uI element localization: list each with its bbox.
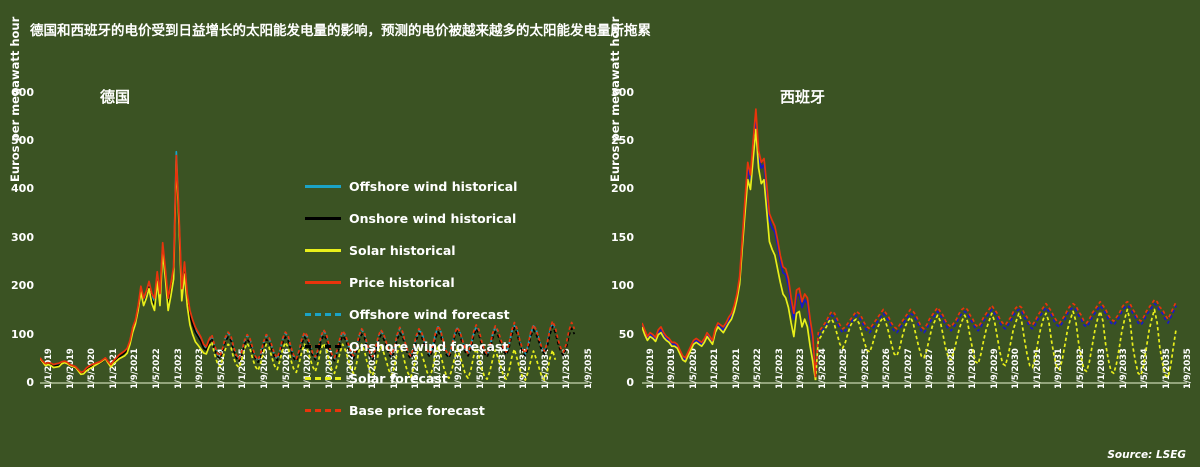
legend-color-swatch [305, 180, 341, 192]
legend-item-label: Solar forecast [349, 371, 448, 386]
y-axis-title-germany: Euros per megawatt hour [8, 17, 22, 182]
y-tick-label: 200 [0, 279, 34, 292]
legend-item-label: Base price forecast [349, 403, 485, 418]
y-tick-label: 100 [600, 279, 634, 292]
y-tick-label: 150 [600, 231, 634, 244]
legend-item[interactable]: Offshore wind historical [305, 170, 517, 202]
y-tick-label: 250 [600, 134, 634, 147]
legend-color-swatch [305, 244, 341, 256]
legend-color-swatch [305, 340, 341, 352]
legend-item-label: Price historical [349, 275, 455, 290]
y-tick-label: 0 [600, 376, 634, 389]
y-axis-title-spain: Euros per megawatt hour [608, 17, 622, 182]
series-line [642, 116, 816, 378]
series-line [816, 304, 1177, 379]
legend-color-swatch [305, 404, 341, 416]
legend-item[interactable]: Onshore wind forecast [305, 330, 517, 362]
series-line [642, 129, 816, 380]
legend-item-label: Solar historical [349, 243, 456, 258]
source-attribution: Source: LSEG [1107, 449, 1186, 461]
chart-panel-spain: 西班牙 Euros per megawatt hour 050100150200… [600, 62, 1200, 462]
legend-color-swatch [305, 372, 341, 384]
plot-area-spain [642, 62, 1197, 392]
y-tick-label: 100 [0, 328, 34, 341]
series-line [40, 156, 209, 373]
y-tick-label: 500 [0, 134, 34, 147]
legend-item[interactable]: Offshore wind forecast [305, 298, 517, 330]
page-title: 德国和西班牙的电价受到日益增长的太阳能发电量的影响，预测的电价被越来越多的太阳能… [30, 19, 651, 39]
series-line [642, 109, 816, 377]
legend-item-label: Onshore wind forecast [349, 339, 508, 354]
series-line [816, 309, 1177, 380]
legend-item-label: Onshore wind historical [349, 211, 516, 226]
legend-color-swatch [305, 308, 341, 320]
legend-item[interactable]: Solar forecast [305, 362, 517, 394]
legend-item[interactable]: Solar historical [305, 234, 517, 266]
y-tick-label: 0 [0, 376, 34, 389]
y-tick-label: 300 [600, 86, 634, 99]
y-tick-label: 400 [0, 182, 34, 195]
y-tick-label: 200 [600, 182, 634, 195]
legend-item-label: Offshore wind historical [349, 179, 517, 194]
legend-item[interactable]: Price historical [305, 266, 517, 298]
legend-item-label: Offshore wind forecast [349, 307, 510, 322]
y-tick-label: 50 [600, 328, 634, 341]
chart-panel-germany: 德国 Euros per megawatt hour 0100200300400… [0, 62, 600, 462]
legend-color-swatch [305, 276, 341, 288]
legend-item[interactable]: Base price forecast [305, 394, 517, 426]
legend-item[interactable]: Onshore wind historical [305, 202, 517, 234]
y-tick-label: 300 [0, 231, 34, 244]
legend-color-swatch [305, 212, 341, 224]
legend-germany: Offshore wind historicalOnshore wind his… [305, 170, 517, 426]
y-tick-label: 600 [0, 86, 34, 99]
